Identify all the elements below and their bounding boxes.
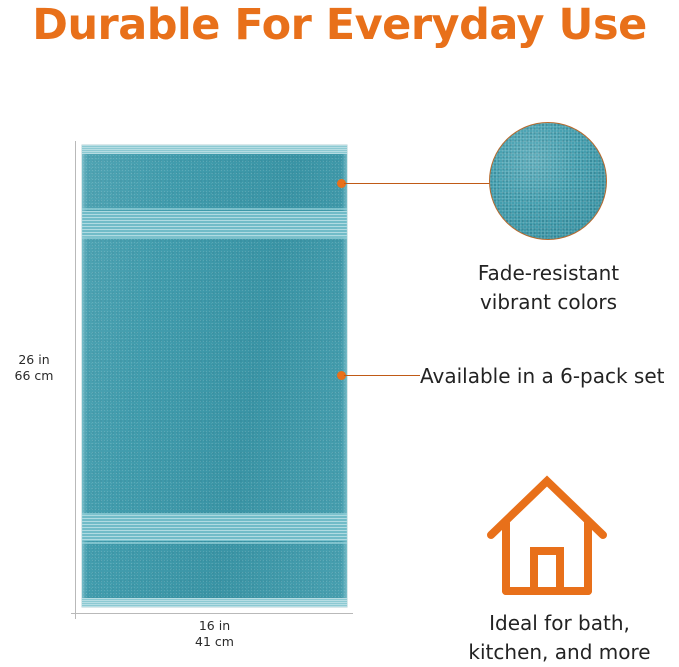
towel-accent-line-top-lower	[82, 237, 347, 239]
feature-ideal-for-line1: Ideal for bath,	[440, 609, 679, 638]
towel-dobby-band-bottom	[82, 515, 347, 541]
towel-hem-top	[82, 145, 347, 154]
towel-accent-line-top-upper	[82, 208, 347, 210]
towel-accent-line-bottom-lower	[82, 542, 347, 544]
feature-ideal-for-line2: kitchen, and more	[440, 638, 679, 667]
fabric-swatch-circle-icon	[489, 122, 607, 240]
towel-product-image	[82, 145, 347, 607]
feature-six-pack-line1: Available in a 6-pack set	[420, 362, 679, 391]
dimension-width-cm: 41 cm	[82, 634, 347, 650]
house-icon	[483, 473, 611, 597]
measurement-guide-horizontal	[71, 613, 353, 614]
towel-dobby-band-top	[82, 211, 347, 237]
feature-label-ideal-for: Ideal for bath, kitchen, and more	[440, 609, 679, 667]
feature-label-six-pack: Available in a 6-pack set	[420, 362, 679, 391]
feature-fade-resistant-line1: Fade-resistant	[418, 259, 679, 288]
measurement-guide-vertical	[75, 141, 76, 619]
page-title: Durable For Everyday Use	[0, 4, 679, 47]
feature-label-fade-resistant: Fade-resistant vibrant colors	[418, 259, 679, 317]
dimension-width-inches: 16 in	[82, 618, 347, 634]
feature-fade-resistant-line2: vibrant colors	[418, 288, 679, 317]
towel-hem-bottom	[82, 598, 347, 607]
callout-line-fade-resistant	[344, 183, 492, 185]
towel-body	[82, 145, 347, 607]
dimension-height-inches: 26 in	[0, 352, 68, 368]
fabric-swatch-sheen	[490, 123, 606, 239]
dimension-label-height: 26 in 66 cm	[0, 352, 68, 383]
callout-line-six-pack	[344, 375, 420, 377]
dimension-height-cm: 66 cm	[0, 368, 68, 384]
dimension-label-width: 16 in 41 cm	[82, 618, 347, 649]
